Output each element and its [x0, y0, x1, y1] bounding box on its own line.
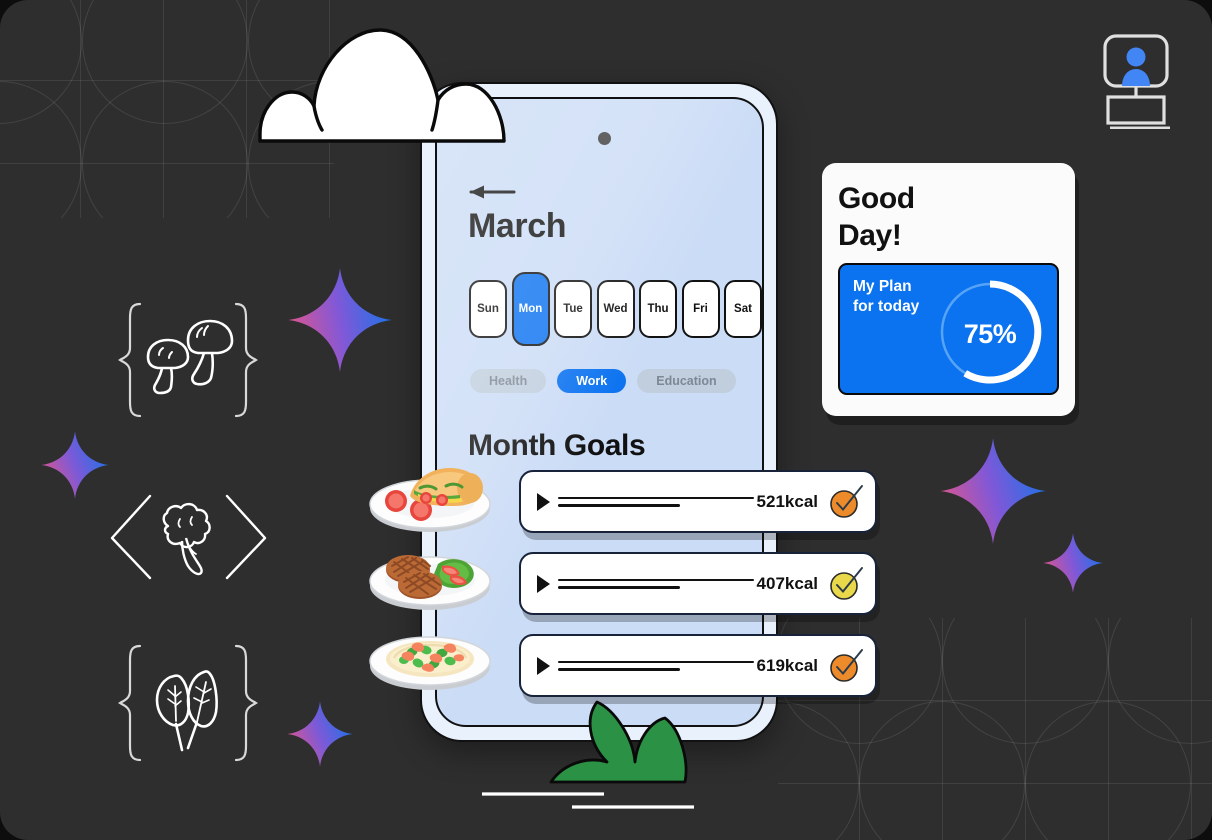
cloud-icon [256, 22, 508, 146]
tab-education[interactable]: Education [637, 369, 735, 393]
my-plan-label: My Plan for today [853, 277, 919, 317]
steak-salad-plate-icon [368, 534, 492, 618]
page-title: March [468, 207, 566, 246]
weekday-chip-fri[interactable]: Fri [682, 280, 720, 338]
greeting-text: Good Day! [838, 180, 1059, 254]
category-filter-tabs[interactable]: Health Work Education [470, 369, 736, 393]
list-item[interactable]: 521kcal [519, 470, 877, 533]
tab-health[interactable]: Health [470, 369, 546, 393]
sandwich-plate-icon [368, 452, 492, 536]
calorie-value: 407kcal [757, 574, 818, 594]
sparkle-icon [1042, 532, 1104, 594]
broccoli-icon [106, 486, 271, 591]
illustration-canvas: March Sun Mon Tue Wed Thu Fri Sat Health… [0, 0, 1212, 840]
sparkle-icon [286, 266, 394, 374]
mushrooms-icon [118, 300, 258, 420]
list-item[interactable]: 619kcal [519, 634, 877, 697]
weekday-chip-sun[interactable]: Sun [469, 280, 507, 338]
goal-text-placeholder [558, 661, 757, 671]
monitor-person-icon [1102, 33, 1178, 129]
sparkle-icon [938, 436, 1048, 546]
check-circle-icon[interactable] [829, 567, 863, 601]
ground-lines-decoration [480, 785, 720, 813]
weekday-selector[interactable]: Sun Mon Tue Wed Thu Fri Sat [469, 272, 762, 346]
check-circle-icon[interactable] [829, 649, 863, 683]
progress-ring-icon: 75% [931, 273, 1049, 391]
tab-work[interactable]: Work [557, 369, 626, 393]
triangle-right-icon[interactable] [537, 575, 550, 593]
calorie-value: 619kcal [757, 656, 818, 676]
calorie-value: 521kcal [757, 492, 818, 512]
good-day-card: Good Day! My Plan for today 75% [822, 163, 1075, 416]
progress-percent-label: 75% [931, 273, 1049, 391]
sparkle-icon [40, 430, 110, 500]
plant-leaves-icon [549, 696, 749, 786]
weekday-chip-sat[interactable]: Sat [724, 280, 762, 338]
sparkle-icon [286, 700, 354, 768]
shrimp-pasta-plate-icon [368, 614, 492, 698]
check-circle-icon[interactable] [829, 485, 863, 519]
front-camera-dot [598, 132, 611, 145]
spinach-leaves-icon [118, 642, 258, 764]
my-plan-tile[interactable]: My Plan for today 75% [838, 263, 1059, 395]
section-title-month-goals: Month Goals [468, 429, 645, 463]
triangle-right-icon[interactable] [537, 657, 550, 675]
weekday-chip-wed[interactable]: Wed [597, 280, 635, 338]
triangle-right-icon[interactable] [537, 493, 550, 511]
weekday-chip-thu[interactable]: Thu [639, 280, 677, 338]
weekday-chip-tue[interactable]: Tue [554, 280, 592, 338]
list-item[interactable]: 407kcal [519, 552, 877, 615]
weekday-chip-mon[interactable]: Mon [512, 272, 550, 346]
month-goals-list: 521kcal 407kcal 619kcal [519, 470, 877, 697]
goal-text-placeholder [558, 579, 757, 589]
arrow-left-icon[interactable] [468, 184, 516, 200]
goal-text-placeholder [558, 497, 757, 507]
